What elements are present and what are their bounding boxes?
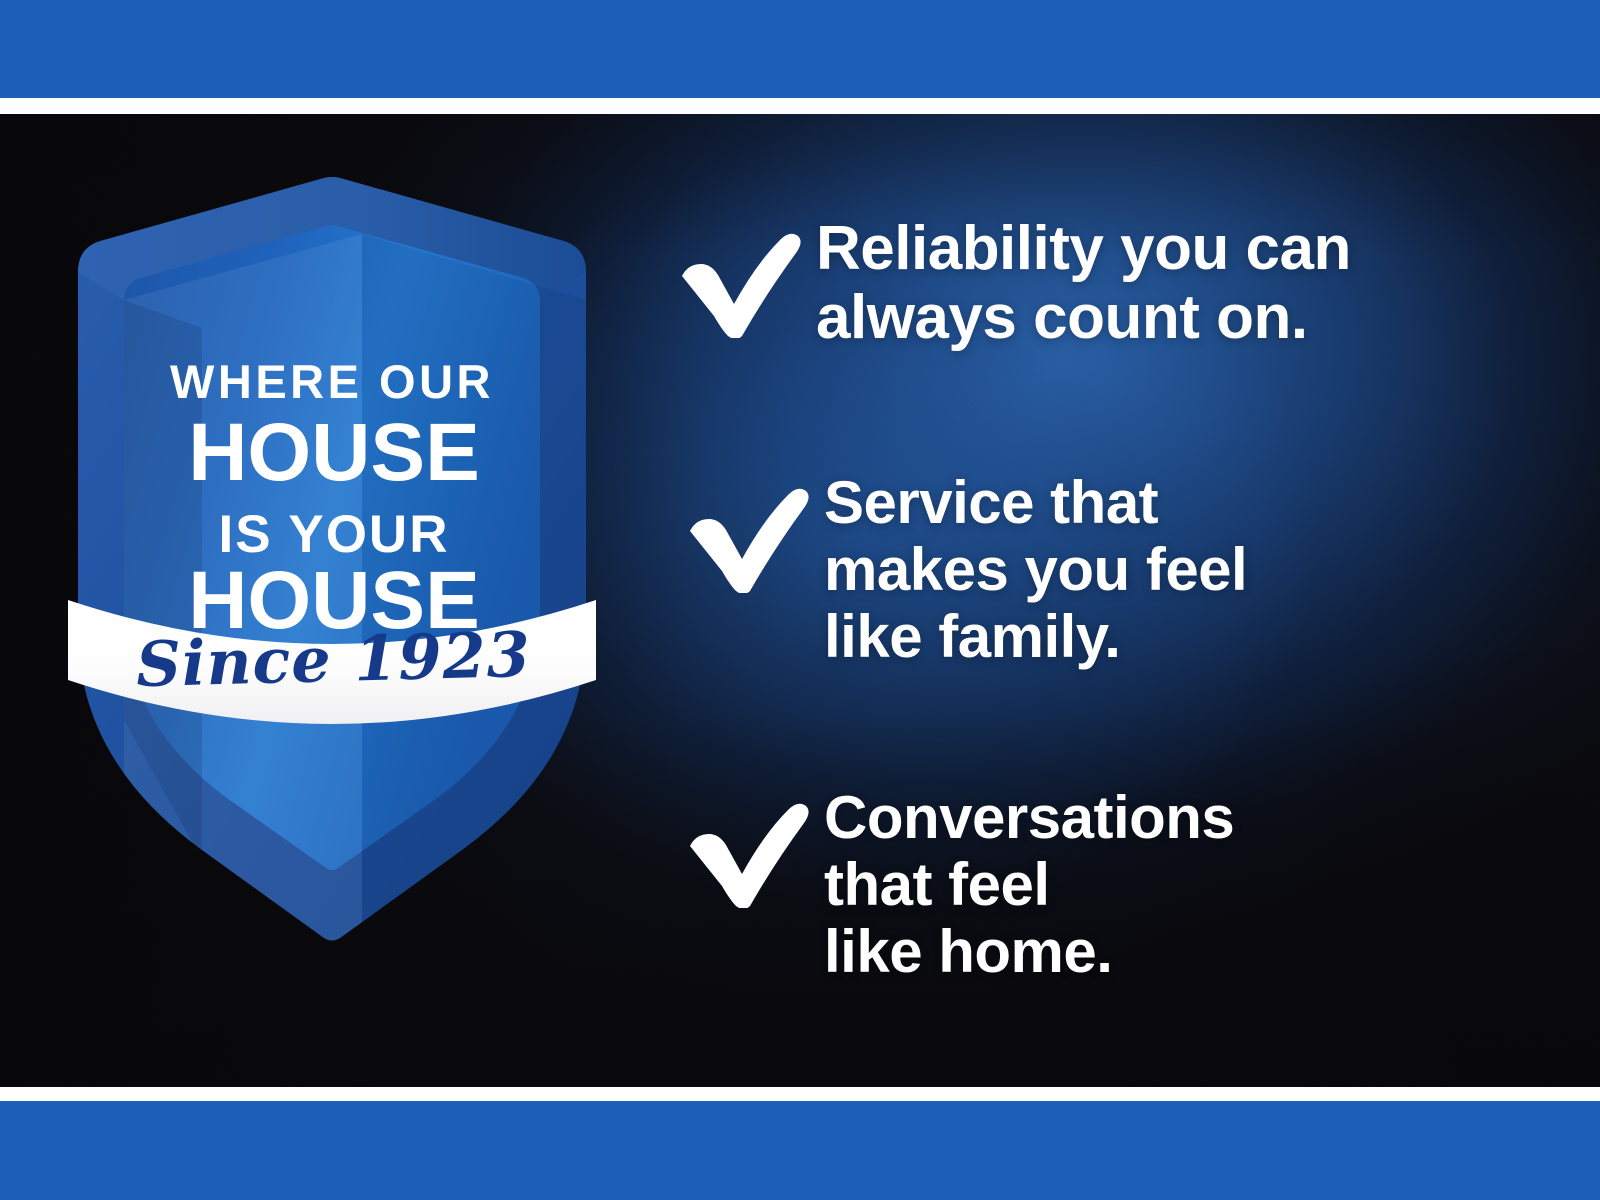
benefit-list: Reliability you can always count on. Ser… bbox=[668, 114, 1528, 1087]
bottom-brand-bar bbox=[0, 1101, 1600, 1200]
benefit-text: Conversations that feel like home. bbox=[824, 784, 1234, 986]
benefit-text: Reliability you can always count on. bbox=[816, 214, 1351, 353]
benefit-text: Service that makes you feel like family. bbox=[824, 469, 1247, 671]
shield-badge: WHERE OUR HOUSE IS YOUR HOUSE Since 1923 bbox=[62, 160, 602, 950]
benefit-item: Service that makes you feel like family. bbox=[676, 469, 1247, 671]
benefit-item: Conversations that feel like home. bbox=[676, 784, 1234, 986]
ribbon-text: Since 1923 bbox=[135, 618, 532, 701]
promo-graphic-canvas: WHERE OUR HOUSE IS YOUR HOUSE Since 1923… bbox=[0, 0, 1600, 1200]
top-white-divider bbox=[0, 98, 1600, 114]
benefit-item: Reliability you can always count on. bbox=[668, 214, 1351, 353]
badge-line-1: HOUSE bbox=[188, 407, 480, 498]
checkmark-icon bbox=[668, 214, 816, 338]
bottom-white-divider bbox=[0, 1087, 1600, 1101]
checkmark-icon bbox=[676, 784, 824, 908]
checkmark-icon bbox=[676, 469, 824, 593]
top-brand-bar bbox=[0, 0, 1600, 98]
badge-line-0: WHERE OUR bbox=[170, 355, 494, 408]
